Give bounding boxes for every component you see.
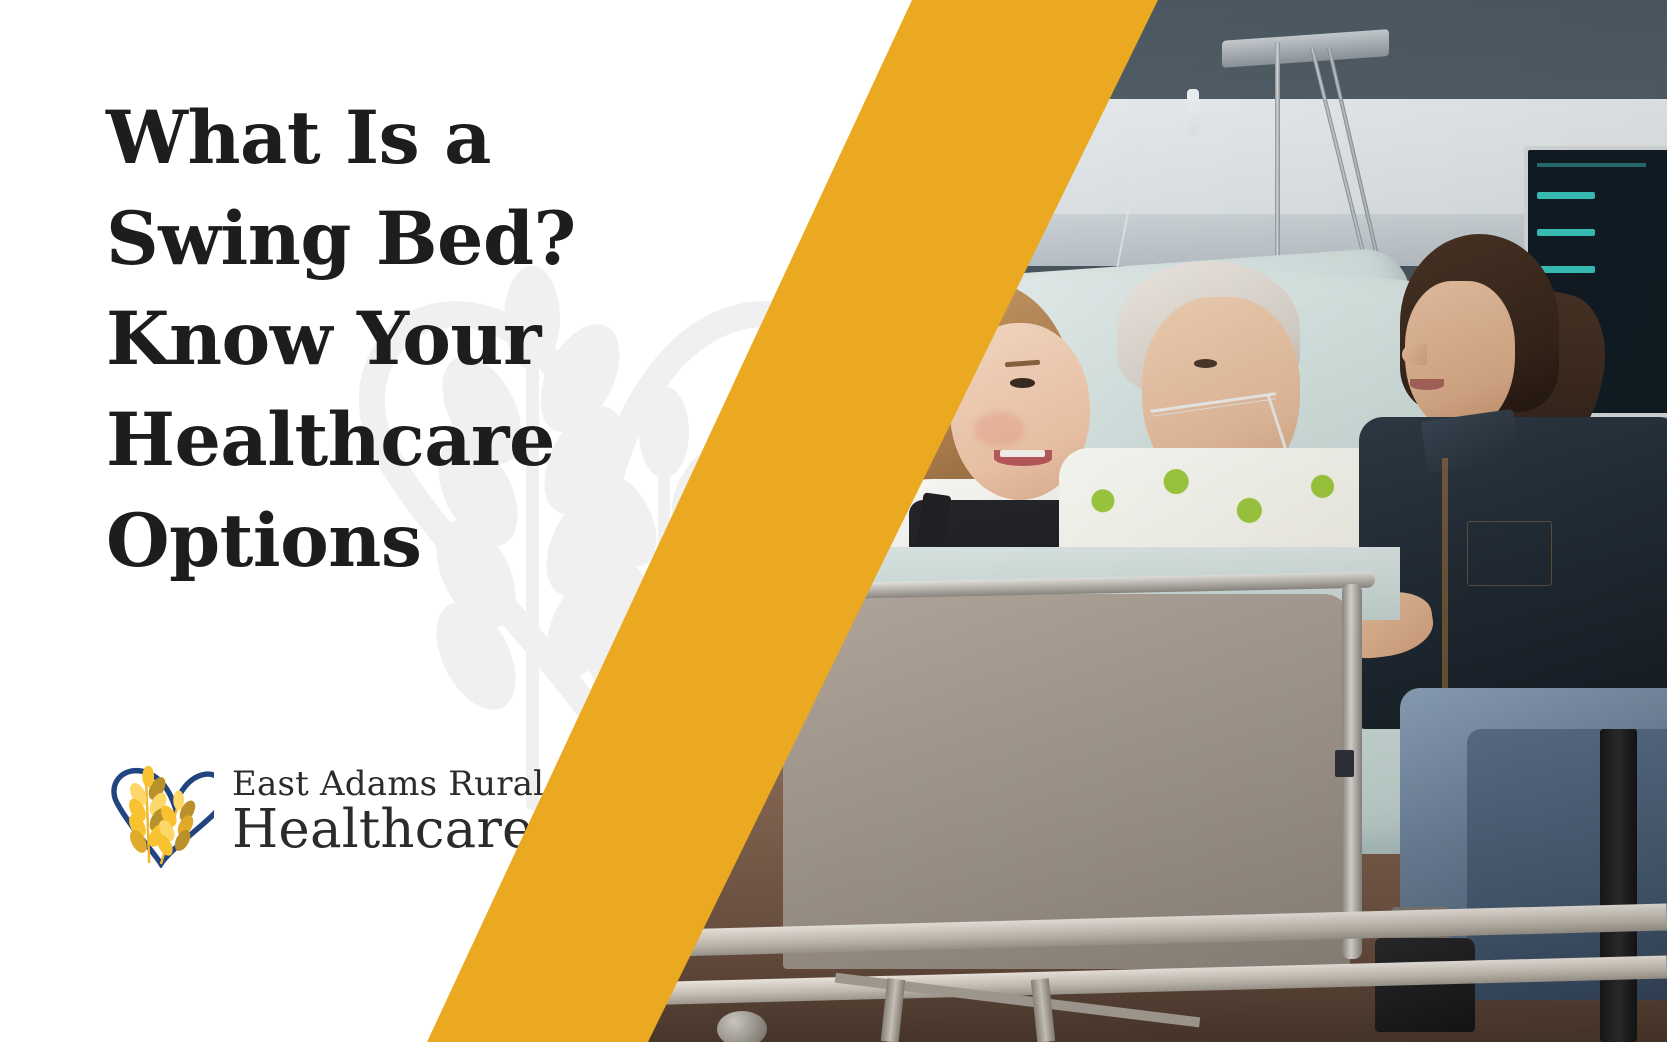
logo-line-2: Healthcare [232,803,544,856]
headline-line-5: Options [106,498,421,584]
logo-wordmark: East Adams Rural Healthcare [232,767,544,856]
headline-line-3: Know Your [106,296,541,382]
headline-line-2: Swing Bed? [106,196,576,282]
page-title: What Is a Swing Bed? Know Your Healthcar… [106,88,576,592]
wheat-heart-icon [106,755,214,867]
headline-line-4: Healthcare [106,397,555,483]
logo-line-1: East Adams Rural [232,767,544,801]
headline-line-1: What Is a [106,95,491,181]
east-adams-rural-healthcare-logo[interactable]: East Adams Rural Healthcare [106,755,544,867]
hero-banner: What Is a Swing Bed? Know Your Healthcar… [0,0,1667,1042]
